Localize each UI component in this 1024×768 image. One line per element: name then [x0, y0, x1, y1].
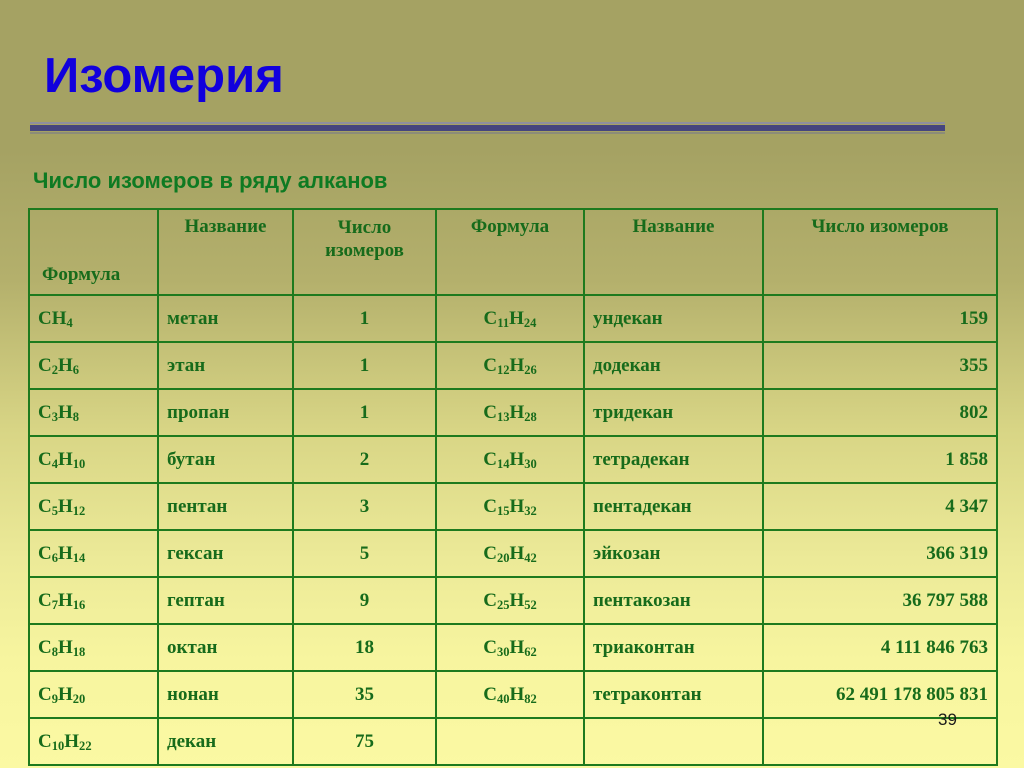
cell-count-right: 36 797 588 — [763, 577, 997, 624]
cell-count-right: 62 491 178 805 831 — [763, 671, 997, 718]
cell-name-right: тетрадекан — [584, 436, 763, 483]
header-name-right: Название — [584, 209, 763, 295]
cell-name-right: пентакозан — [584, 577, 763, 624]
cell-formula-left: C10H22 — [29, 718, 158, 765]
table-header-row: Формула Название Число изомеров Формула … — [29, 209, 997, 295]
table-row: C2H6этан1C12H26додекан355 — [29, 342, 997, 389]
cell-name-right: додекан — [584, 342, 763, 389]
cell-name-right: тридекан — [584, 389, 763, 436]
divider-line-main — [30, 125, 945, 131]
table-row: C8H18октан18C30H62триаконтан4 111 846 76… — [29, 624, 997, 671]
isomer-table-body: Формула Название Число изомеров Формула … — [29, 209, 997, 765]
cell-name-left: этан — [158, 342, 293, 389]
cell-count-left: 1 — [293, 295, 436, 342]
slide: Изомерия Число изомеров в ряду алканов Ф… — [0, 0, 1024, 768]
cell-formula-right: C12H26 — [436, 342, 584, 389]
cell-formula-left: C3H8 — [29, 389, 158, 436]
table-row: C4H10бутан2C14H30тетрадекан1 858 — [29, 436, 997, 483]
isomer-table-wrap: Формула Название Число изомеров Формула … — [28, 208, 996, 766]
cell-name-left: метан — [158, 295, 293, 342]
cell-count-right: 4 111 846 763 — [763, 624, 997, 671]
slide-number: 39 — [938, 710, 957, 730]
cell-count-right: 802 — [763, 389, 997, 436]
header-count-right: Число изомеров — [763, 209, 997, 295]
table-row: CH4метан1C11H24ундекан159 — [29, 295, 997, 342]
cell-count-left: 1 — [293, 389, 436, 436]
cell-count-right: 355 — [763, 342, 997, 389]
cell-formula-right: C15H32 — [436, 483, 584, 530]
table-row: C6H14гексан5C20H42эйкозан366 319 — [29, 530, 997, 577]
header-formula-right: Формула — [436, 209, 584, 295]
cell-name-left: пропан — [158, 389, 293, 436]
cell-formula-left: C9H20 — [29, 671, 158, 718]
cell-name-left: декан — [158, 718, 293, 765]
cell-count-left: 9 — [293, 577, 436, 624]
header-formula-left: Формула — [29, 209, 158, 295]
cell-formula-right: C30H62 — [436, 624, 584, 671]
cell-name-right: эйкозан — [584, 530, 763, 577]
table-row: C10H22декан75 — [29, 718, 997, 765]
cell-count-right — [763, 718, 997, 765]
cell-count-right: 1 858 — [763, 436, 997, 483]
cell-name-left: нонан — [158, 671, 293, 718]
divider-line-bottom — [30, 132, 945, 134]
cell-count-right: 366 319 — [763, 530, 997, 577]
cell-count-right: 4 347 — [763, 483, 997, 530]
cell-formula-right: C13H28 — [436, 389, 584, 436]
cell-count-left: 1 — [293, 342, 436, 389]
divider-line-top — [30, 122, 945, 124]
subtitle: Число изомеров в ряду алканов — [33, 168, 387, 194]
cell-formula-right: C25H52 — [436, 577, 584, 624]
header-name-left: Название — [158, 209, 293, 295]
table-row: C9H20нонан35C40H82тетраконтан62 491 178 … — [29, 671, 997, 718]
cell-formula-left: C2H6 — [29, 342, 158, 389]
cell-name-right: тетраконтан — [584, 671, 763, 718]
cell-formula-left: C5H12 — [29, 483, 158, 530]
cell-formula-right: C14H30 — [436, 436, 584, 483]
cell-name-left: октан — [158, 624, 293, 671]
cell-formula-left: C6H14 — [29, 530, 158, 577]
header-count-left-line1: Число — [302, 216, 427, 239]
cell-count-left: 2 — [293, 436, 436, 483]
header-count-left-line2: изомеров — [302, 239, 427, 262]
table-row: C7H16гептан9C25H52пентакозан36 797 588 — [29, 577, 997, 624]
page-title: Изомерия — [44, 48, 284, 105]
table-row: C3H8пропан1C13H28тридекан802 — [29, 389, 997, 436]
cell-formula-right: C11H24 — [436, 295, 584, 342]
header-count-left: Число изомеров — [293, 209, 436, 295]
cell-formula-left: C4H10 — [29, 436, 158, 483]
cell-name-right: пентадекан — [584, 483, 763, 530]
cell-formula-right: C40H82 — [436, 671, 584, 718]
cell-name-left: гептан — [158, 577, 293, 624]
cell-name-right: триаконтан — [584, 624, 763, 671]
cell-formula-right — [436, 718, 584, 765]
cell-count-left: 75 — [293, 718, 436, 765]
cell-formula-right: C20H42 — [436, 530, 584, 577]
cell-name-left: бутан — [158, 436, 293, 483]
cell-name-left: гексан — [158, 530, 293, 577]
isomer-table: Формула Название Число изомеров Формула … — [28, 208, 998, 766]
table-row: C5H12пентан3C15H32пентадекан4 347 — [29, 483, 997, 530]
cell-formula-left: C8H18 — [29, 624, 158, 671]
cell-formula-left: C7H16 — [29, 577, 158, 624]
cell-count-left: 5 — [293, 530, 436, 577]
cell-count-left: 3 — [293, 483, 436, 530]
title-divider — [30, 122, 945, 134]
cell-name-right: ундекан — [584, 295, 763, 342]
cell-name-right — [584, 718, 763, 765]
cell-count-right: 159 — [763, 295, 997, 342]
cell-count-left: 18 — [293, 624, 436, 671]
cell-name-left: пентан — [158, 483, 293, 530]
cell-count-left: 35 — [293, 671, 436, 718]
cell-formula-left: CH4 — [29, 295, 158, 342]
